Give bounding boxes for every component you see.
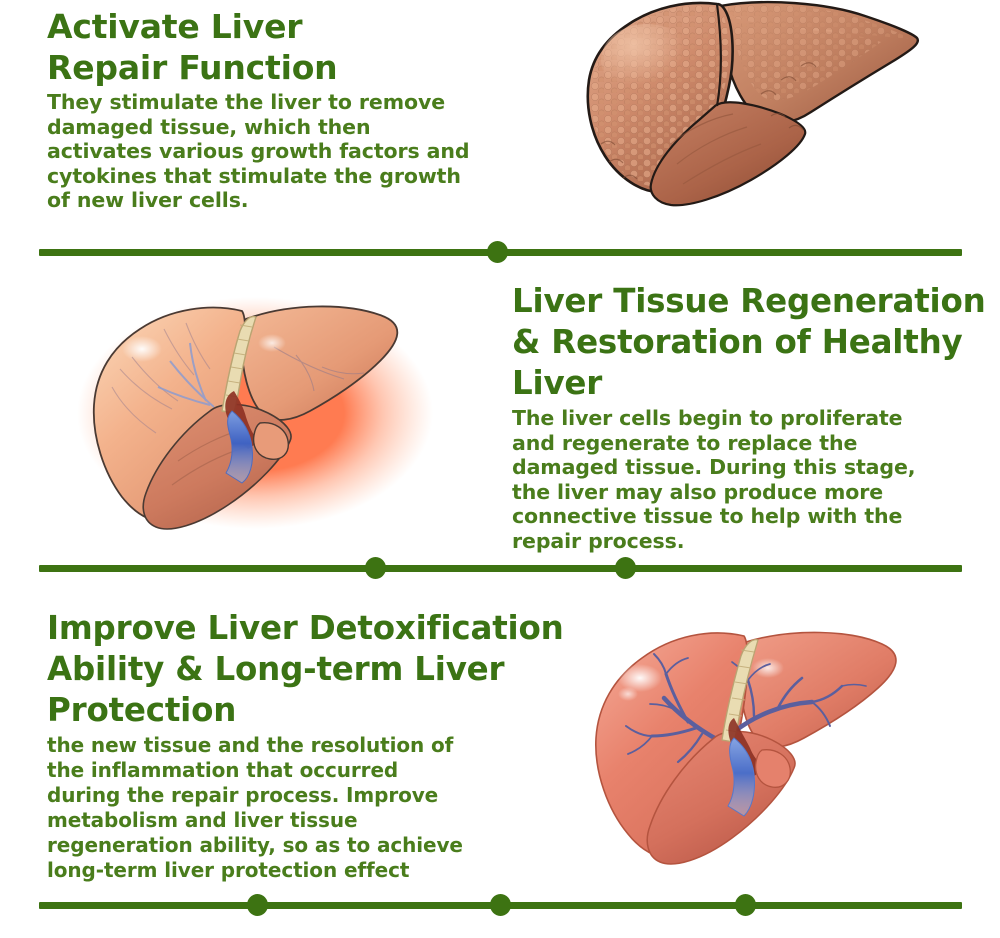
section-3-body: the new tissue and the resolution of the… <box>47 733 567 883</box>
section-1-body: They stimulate the liver to remove damag… <box>47 90 497 213</box>
section-3-heading: Improve Liver Detoxification Ability & L… <box>47 608 567 731</box>
divider-node <box>615 557 636 579</box>
divider-node <box>247 894 268 916</box>
section-2-body: The liver cells begin to proliferate and… <box>512 406 990 553</box>
liver-infographic: Activate Liver Repair Function They stim… <box>0 0 1000 938</box>
divider-2 <box>39 556 962 580</box>
divider-3 <box>39 893 962 917</box>
divider-node <box>490 894 511 916</box>
healthy-liver-illustration <box>568 612 968 880</box>
cirrhotic-liver-illustration <box>565 0 955 219</box>
section-2-heading: Liver Tissue Regeneration & Restoration … <box>512 281 990 404</box>
section-3-text-block: Improve Liver Detoxification Ability & L… <box>47 608 567 883</box>
divider-rule <box>39 565 962 572</box>
divider-node <box>365 557 386 579</box>
liver-right-lobe <box>740 632 896 746</box>
divider-node <box>735 894 756 916</box>
divider-node <box>487 241 508 263</box>
section-1-heading: Activate Liver Repair Function <box>47 6 497 88</box>
regenerating-liver-illustration <box>60 283 460 543</box>
section-2-text-block: Liver Tissue Regeneration & Restoration … <box>512 281 990 553</box>
section-1-text-block: Activate Liver Repair Function They stim… <box>47 6 497 213</box>
divider-1 <box>39 240 962 264</box>
